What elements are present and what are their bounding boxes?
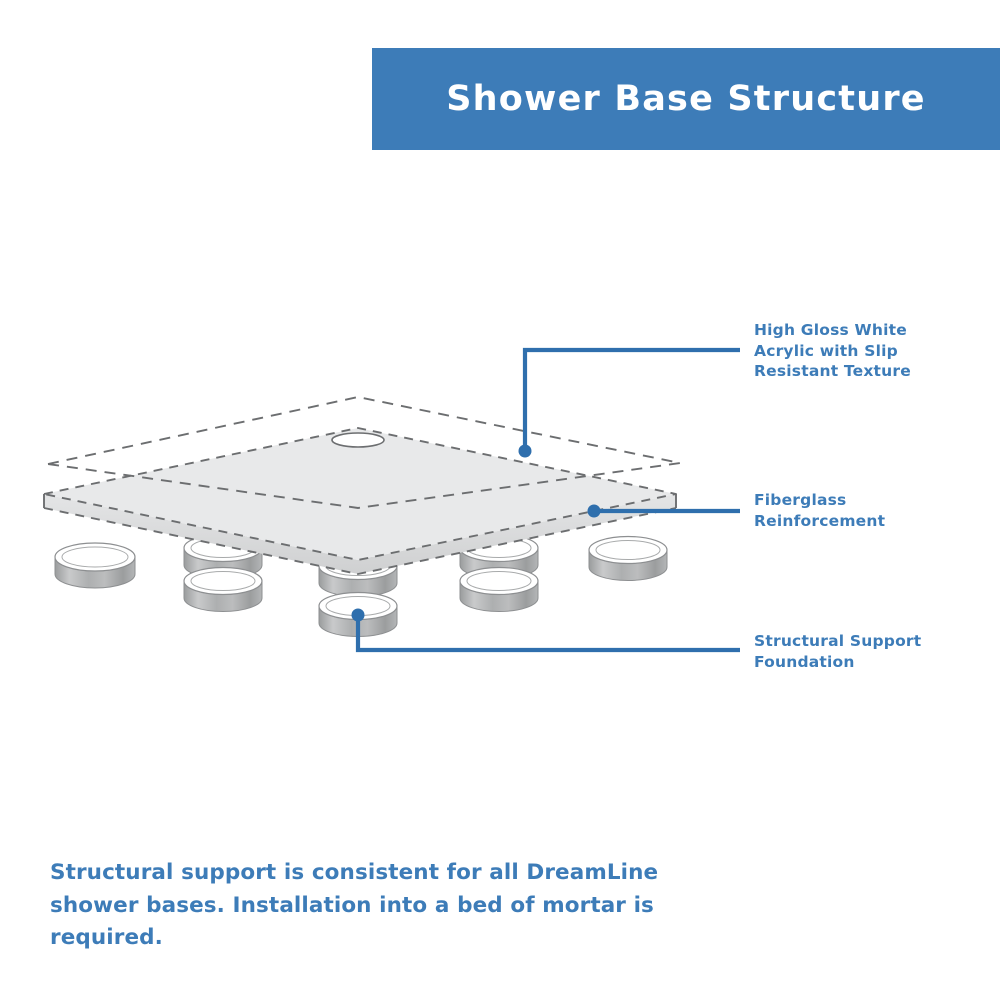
support-ring	[184, 568, 262, 612]
diagram-page: Shower Base Structure	[0, 0, 1000, 1000]
callout-leader-support	[352, 609, 741, 651]
drain-opening	[332, 433, 384, 447]
callout-label-fiberglass: Fiberglass Reinforcement	[754, 490, 885, 531]
support-ring	[55, 543, 135, 588]
callout-leader-acrylic	[519, 350, 741, 458]
support-ring	[460, 568, 538, 612]
callout-label-support: Structural Support Foundation	[754, 631, 921, 672]
fiberglass-layer	[44, 428, 676, 574]
callout-label-acrylic: High Gloss White Acrylic with Slip Resis…	[754, 320, 911, 382]
support-ring	[589, 537, 667, 581]
footer-caption: Structural support is consistent for all…	[50, 857, 690, 955]
